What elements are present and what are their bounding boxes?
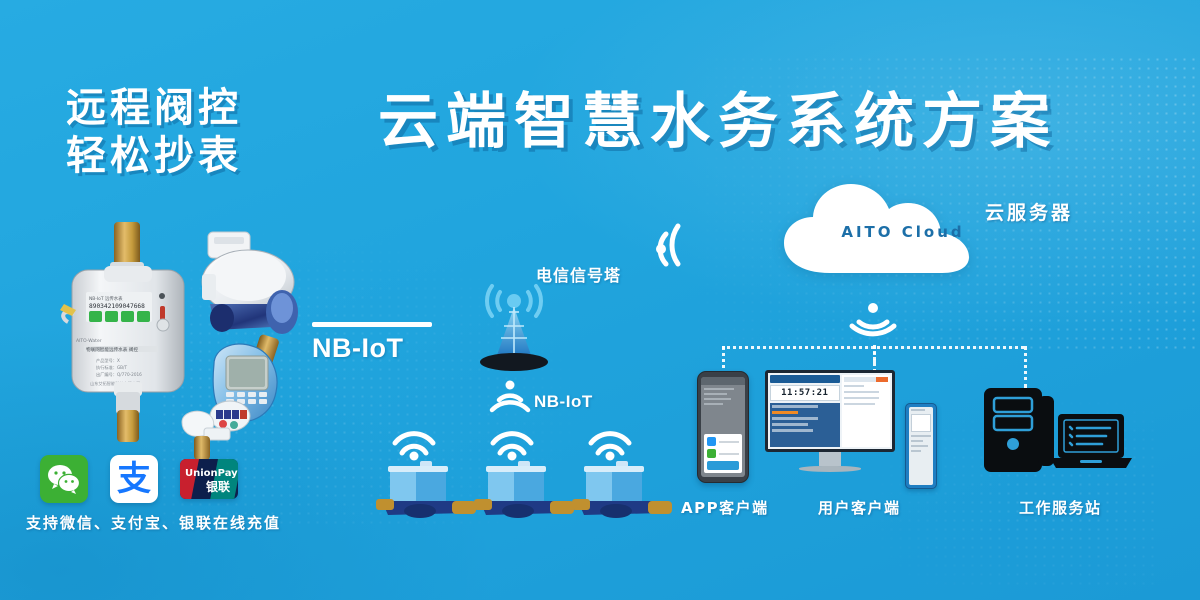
cell-tower-label: 电信信号塔	[536, 262, 621, 286]
alipay-logo[interactable]: 支	[110, 455, 158, 503]
svg-text:产品型号：X: 产品型号：X	[96, 357, 120, 364]
nbiot-water-meter-2	[472, 425, 582, 530]
phone-payment-dialog[interactable]	[704, 434, 742, 473]
handheld-screen	[909, 407, 933, 485]
nbiot-badge-primary: NB-IoT	[312, 322, 432, 364]
monitor-neck	[819, 452, 841, 466]
cloud-label: AITO Cloud	[828, 223, 978, 241]
wechat-icon	[47, 464, 81, 494]
app-client-phone[interactable]	[697, 371, 749, 483]
nbiot-water-meter-3	[570, 425, 680, 530]
nbiot-label-primary: NB-IoT	[312, 333, 432, 364]
phone-status-bar	[701, 377, 745, 385]
svg-text:银联: 银联	[206, 479, 230, 494]
monitor-dashboard: 11:57:21	[768, 373, 892, 449]
svg-text:890342109047668: 890342109047668	[89, 303, 145, 310]
dashboard-left-pane: 11:57:21	[770, 375, 840, 447]
signal-arc-meters-uplink	[487, 378, 533, 418]
payment-caption: 支持微信、支付宝、银联在线充值	[26, 512, 281, 533]
monitor-base	[799, 466, 861, 472]
dashboard-clock: 11:57:21	[770, 385, 840, 401]
desktop-tower-icon	[984, 388, 1054, 472]
wechat-pay-logo[interactable]	[40, 455, 88, 503]
laptop-icon	[1050, 414, 1132, 468]
monitor-screen: 11:57:21	[765, 370, 895, 452]
svg-text:AITO-Water: AITO-Water	[76, 338, 102, 344]
sub-headline-line-1: 远程阀控	[66, 84, 366, 132]
poster-canvas: 远程阀控 轻松抄表 云端智慧水务系统方案 AITO Cloud 云服务器	[0, 0, 1200, 600]
phone-screen	[701, 377, 745, 477]
svg-text:物联网智能远传水表 阀控: 物联网智能远传水表 阀控	[86, 346, 138, 353]
work-station-label: 工作服务站	[1019, 497, 1102, 518]
user-client-monitor[interactable]: 11:57:21	[765, 370, 895, 472]
nbiot-rule	[312, 322, 432, 327]
dashboard-titlebar	[770, 375, 840, 383]
nbiot-water-meter-1	[374, 425, 484, 530]
signal-arc-cloud-downlink	[845, 300, 901, 348]
connector-branch-workstation	[1024, 346, 1027, 388]
phone-content-lines	[701, 385, 745, 411]
cloud-server-label: 云服务器	[985, 198, 1073, 225]
dashboard-menu-list[interactable]	[770, 403, 840, 447]
phone-pay-option-wechat[interactable]	[707, 437, 739, 446]
connector-branch-user	[873, 346, 876, 372]
svg-text:NB-IoT 远传水表: NB-IoT 远传水表	[89, 295, 123, 302]
app-client-label: APP客户端	[681, 497, 769, 518]
unionpay-icon: UnionPay 银联	[180, 459, 238, 499]
nbiot-label-secondary: NB-IoT	[534, 392, 593, 412]
dashboard-action-button[interactable]	[876, 377, 888, 382]
handheld-terminal[interactable]	[905, 403, 937, 489]
alipay-glyph: 支	[117, 462, 151, 496]
svg-text:UnionPay: UnionPay	[185, 468, 238, 479]
cloud-server-graphic: AITO Cloud	[770, 168, 980, 283]
svg-text:执行标准：GB/T: 执行标准：GB/T	[96, 364, 127, 371]
user-client-label: 用户客户端	[818, 497, 901, 518]
work-station-graphic	[982, 386, 1132, 486]
svg-text:出厂编号：Q/770-2016: 出厂编号：Q/770-2016	[96, 371, 142, 378]
page-title: 云端智慧水务系统方案	[378, 88, 1058, 156]
handheld-meter-dial	[911, 414, 931, 432]
phone-confirm-button[interactable]	[707, 461, 739, 470]
sub-headline-line-2: 轻松抄表	[66, 132, 366, 180]
phone-pay-option-alipay[interactable]	[707, 449, 739, 458]
signal-arc-to-cloud	[652, 222, 706, 270]
payment-methods: 支 UnionPay 银联	[40, 455, 238, 503]
dashboard-right-pane	[842, 375, 890, 447]
unionpay-logo[interactable]: UnionPay 银联	[180, 459, 238, 499]
sub-headline: 远程阀控 轻松抄表	[66, 84, 366, 180]
blue-prepaid-water-meter	[168, 330, 308, 465]
